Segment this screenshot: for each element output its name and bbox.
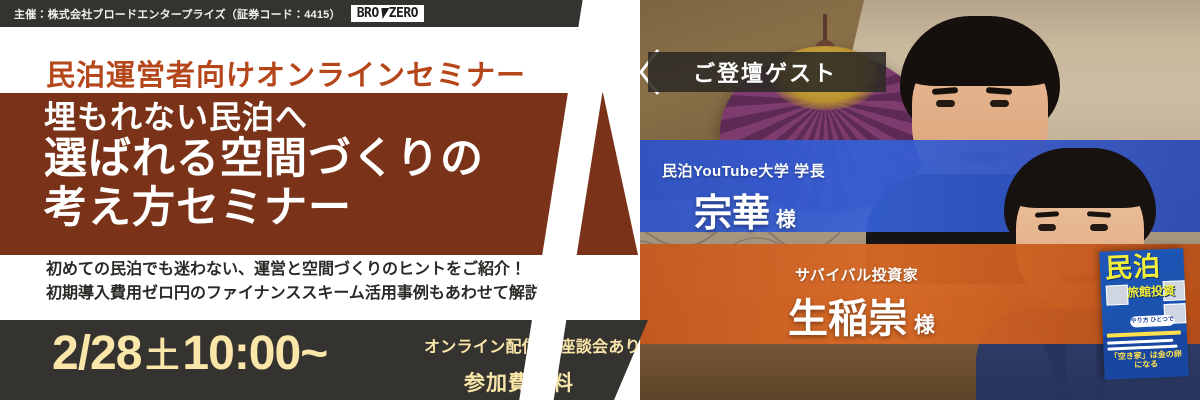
guest-badge-label: ご登壇ゲスト <box>693 56 837 88</box>
event-day-of-week: 土 <box>145 337 178 375</box>
lead-line-1: 初めての民泊でも迷わない、運営と空間づくりのヒントをご紹介！ <box>46 258 557 282</box>
speaker-2-name-text: 生稲崇 <box>788 297 908 341</box>
speaker-2-eye-left <box>1038 224 1056 231</box>
speaker-1-fringe <box>906 38 1054 86</box>
brozero-logo: BRO ZERO <box>351 5 424 22</box>
logo-text-right: ZERO <box>389 7 418 20</box>
book-title: 民泊 <box>1104 253 1161 282</box>
event-datetime: 2/28土10:00~ <box>52 330 327 378</box>
event-date: 2/28 <box>52 327 141 380</box>
sponsor-bar: 主催：株式会社ブロードエンタープライズ（証券コード：4415） BRO ZERO <box>0 0 600 27</box>
event-time: 10:00~ <box>182 327 327 380</box>
event-info-group: オンライン配信 & 座談会あり 参加費無料 <box>424 333 614 397</box>
guest-photo-panel: 民泊YouTube大学 学長 宗華様 サバイバル投資家 生稲崇様 <box>600 0 1200 400</box>
book-bottom-text: 「空き家」は金の卵になる <box>1109 351 1184 372</box>
speaker-2-fringe <box>1010 166 1150 208</box>
speaker-1-role: 民泊YouTube大学 学長 <box>662 160 825 181</box>
speaker-1-eye-right <box>990 100 1009 107</box>
headline-line-2: 選ばれる空間づくりの <box>44 135 484 184</box>
speaker-1-name-suffix: 様 <box>776 209 796 231</box>
headline-line-3: 考え方セミナー <box>44 184 484 233</box>
sponsor-text: 主催：株式会社ブロードエンタープライズ（証券コード：4415） <box>14 6 341 22</box>
logo-text-left: BRO <box>357 7 379 20</box>
speaker-1-name: 宗華様 <box>694 182 796 237</box>
lead-line-2: 初期導入費用ゼロ円のファイナンススキーム活用事例もあわせて解説！ <box>46 282 557 306</box>
speaker-1-eye-left <box>936 100 955 107</box>
seminar-banner: 民泊YouTube大学 学長 宗華様 サバイバル投資家 生稲崇様 <box>0 0 1200 400</box>
speaker-2-name: 生稲崇様 <box>788 286 935 344</box>
lead-paragraph: 初めての民泊でも迷わない、運営と空間づくりのヒントをご紹介！ 初期導入費用ゼロ円… <box>46 258 557 307</box>
book-badge: やり方 ひとつで <box>1130 315 1174 328</box>
book-photo-1 <box>1106 285 1129 306</box>
speaker-2-name-suffix: 様 <box>914 314 935 337</box>
speaker-2-eye-right <box>1090 224 1108 231</box>
headline-line-1: 埋もれない民泊へ <box>44 99 484 137</box>
book-cover: 民泊 旅館投資 やり方 ひとつで 「空き家」は金の卵になる <box>1099 248 1189 380</box>
book-subtitle: 旅館投資 <box>1127 285 1176 300</box>
headline-group: 埋もれない民泊へ 選ばれる空間づくりの 考え方セミナー <box>44 99 484 234</box>
speaker-1-name-text: 宗華 <box>694 193 770 235</box>
event-fee-note: 参加費無料 <box>424 367 614 397</box>
logo-slash-icon <box>378 8 389 19</box>
event-format-note: オンライン配信 & 座談会あり <box>424 333 614 357</box>
eyebrow-title: 民泊運営者向けオンラインセミナー <box>46 52 526 94</box>
speaker-2-role: サバイバル投資家 <box>795 264 918 285</box>
guest-badge: ご登壇ゲスト <box>648 52 886 92</box>
